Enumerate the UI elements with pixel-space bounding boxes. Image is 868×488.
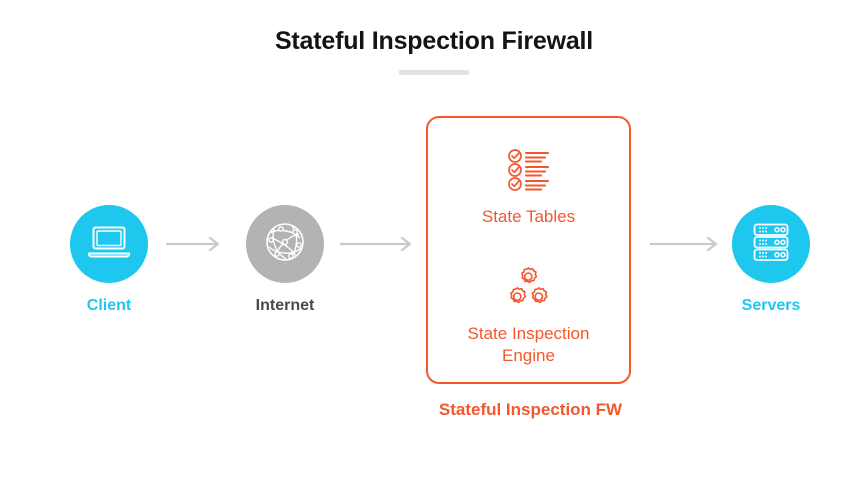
internet-circle	[246, 205, 324, 283]
network-flow-diagram: Client	[0, 0, 868, 488]
server-rack-icon	[748, 219, 794, 270]
globe-network-icon	[261, 218, 309, 271]
arrow-firewall-to-servers	[650, 236, 722, 257]
firewall-caption: Stateful Inspection FW	[426, 400, 635, 420]
flow-node-client[interactable]: Client	[49, 205, 169, 315]
state-tables-label: State Tables	[482, 206, 575, 228]
laptop-icon	[86, 223, 132, 266]
arrow-internet-to-firewall	[340, 236, 416, 257]
arrow-client-to-internet	[166, 236, 224, 257]
flow-node-servers[interactable]: Servers	[711, 205, 831, 315]
internet-label: Internet	[225, 297, 345, 315]
checklist-icon	[507, 149, 551, 196]
servers-circle	[732, 205, 810, 283]
flow-node-internet[interactable]: Internet	[225, 205, 345, 315]
servers-label: Servers	[711, 297, 831, 315]
state-inspection-engine-label: State Inspection Engine	[468, 323, 590, 367]
firewall-box[interactable]: State Tables Stat	[426, 116, 631, 384]
engine-label-line2: Engine	[502, 346, 555, 365]
client-circle	[70, 205, 148, 283]
client-label: Client	[49, 297, 169, 315]
firewall-group: State Tables Stat	[426, 116, 635, 420]
engine-label-line1: State Inspection	[468, 324, 590, 343]
state-inspection-engine-block: State Inspection Engine	[468, 266, 590, 367]
gears-icon	[504, 266, 552, 313]
